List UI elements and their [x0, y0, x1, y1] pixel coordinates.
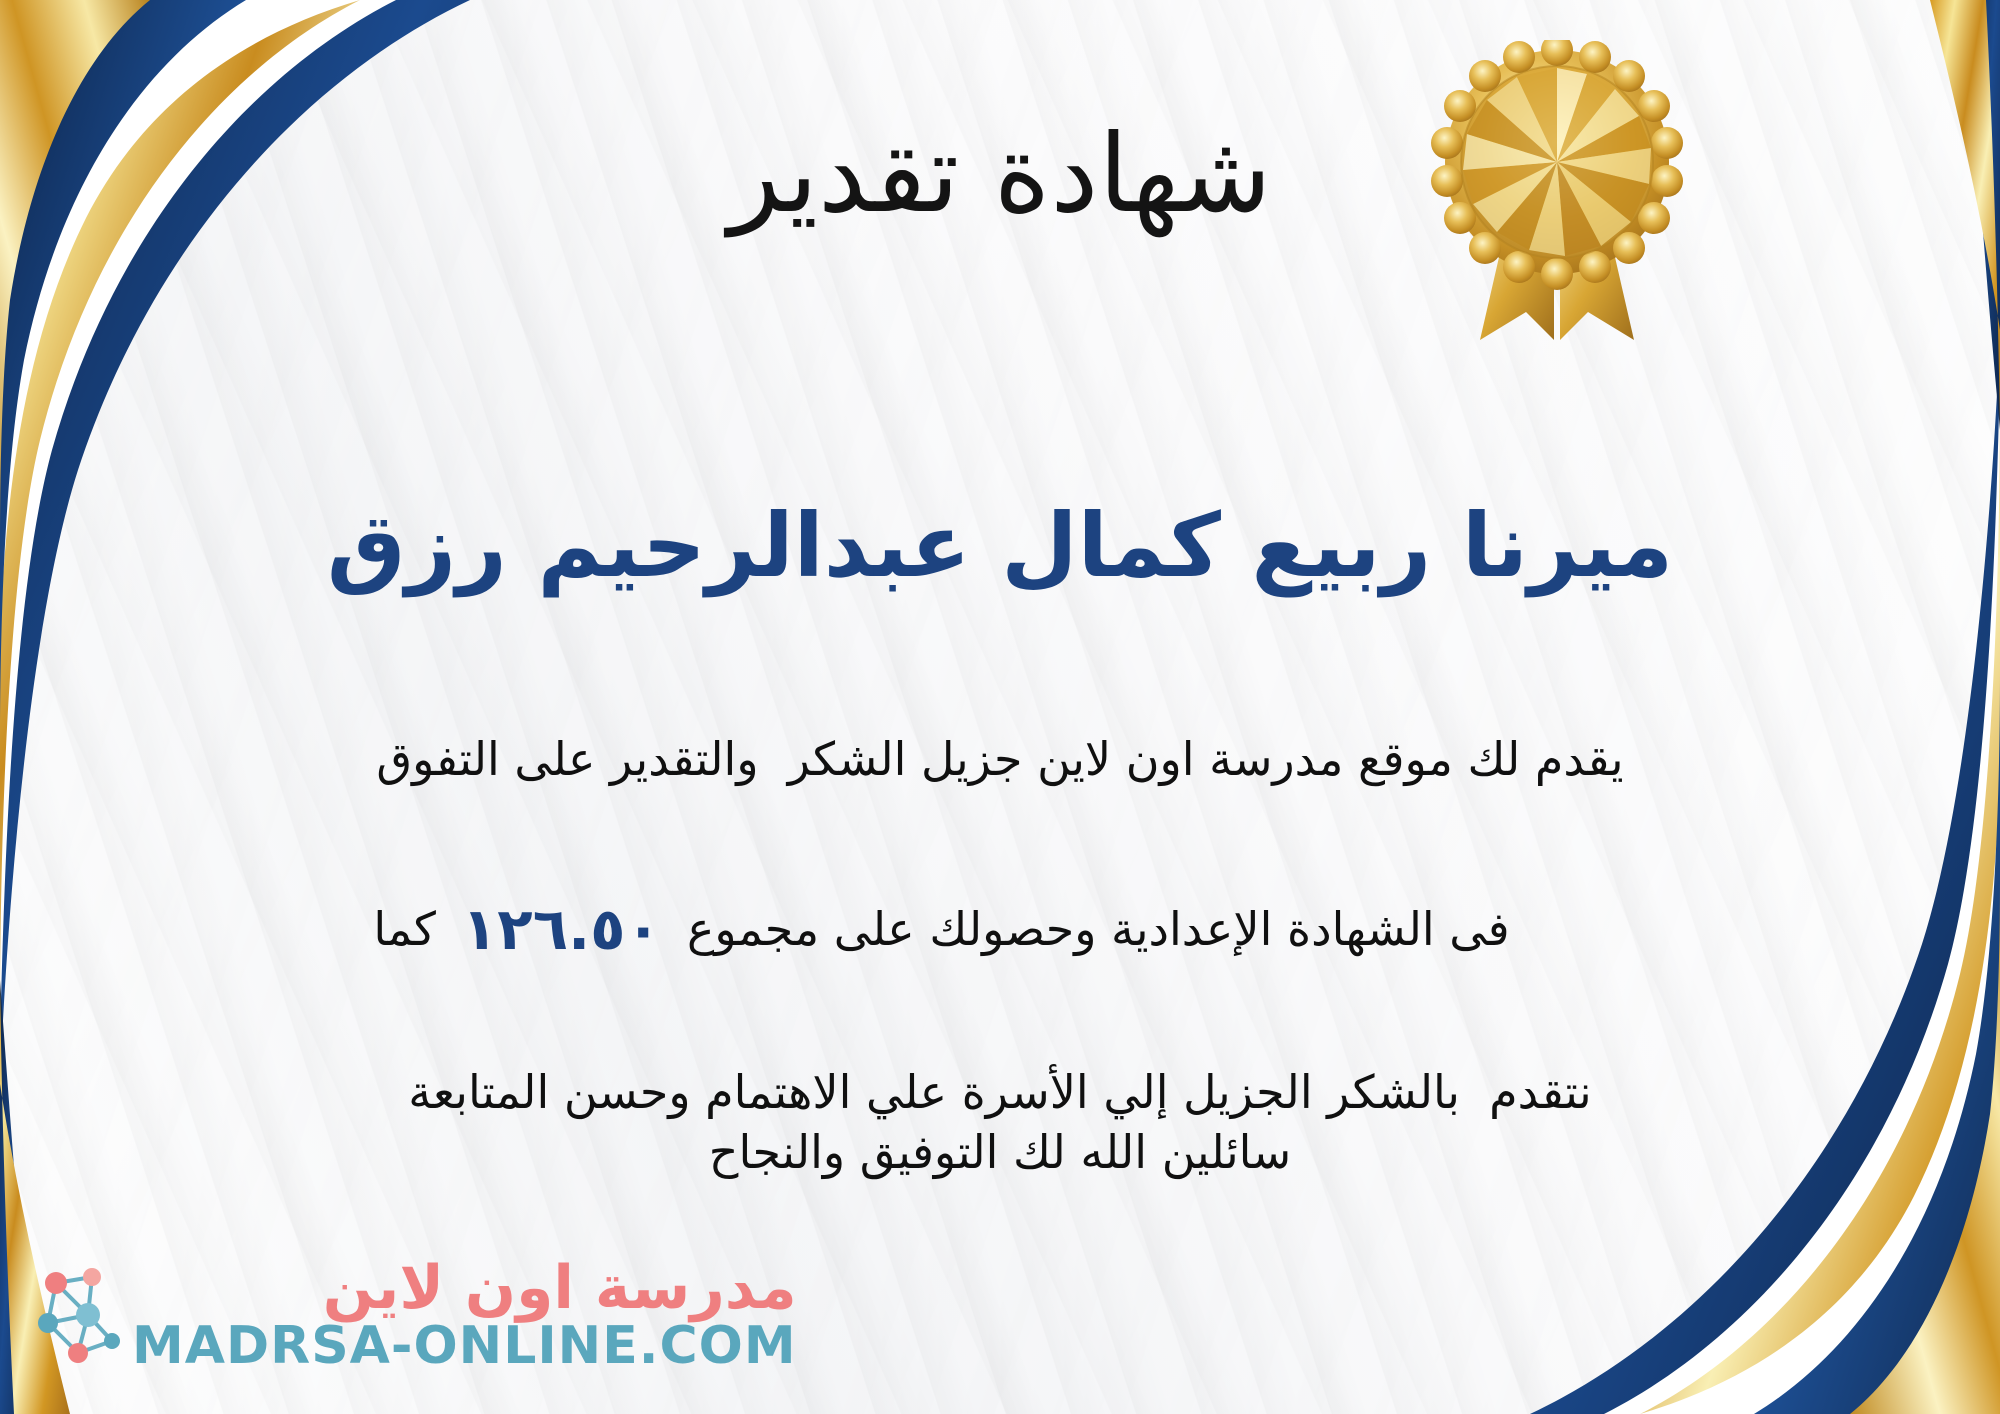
grade-total-value: ١٢٦.٥٠ — [436, 880, 687, 979]
body-line-2-suffix: كما — [373, 902, 436, 956]
body-line-2-prefix: فى الشهادة الإعدادية وحصولك على مجموع — [687, 902, 1510, 956]
certificate-card: شهادة تقدير ميرنا ربيع كمال عبدالرحيم رز… — [0, 0, 2000, 1414]
network-nodes-icon — [26, 1261, 122, 1371]
student-name: ميرنا ربيع كمال عبدالرحيم رزق — [0, 495, 2000, 596]
brand-text: مدرسة اون لاين MADRSA-ONLINE.COM — [132, 1258, 797, 1374]
page-title: شهادة تقدير — [0, 118, 2000, 231]
brand-name-english: MADRSA-ONLINE.COM — [132, 1319, 797, 1374]
closing-wish: سائلين الله لك التوفيق والنجاح — [0, 1118, 2000, 1187]
body-line-1: يقدم لك موقع مدرسة اون لاين جزيل الشكر و… — [150, 720, 1850, 798]
brand-logo[interactable]: مدرسة اون لاين MADRSA-ONLINE.COM — [26, 1258, 797, 1374]
certificate-content: شهادة تقدير ميرنا ربيع كمال عبدالرحيم رز… — [0, 0, 2000, 1414]
brand-name-arabic: مدرسة اون لاين — [323, 1258, 797, 1319]
certificate-body: يقدم لك موقع مدرسة اون لاين جزيل الشكر و… — [150, 720, 1850, 1131]
body-line-2: فى الشهادة الإعدادية وحصولك على مجموع١٢٦… — [150, 798, 1850, 1053]
